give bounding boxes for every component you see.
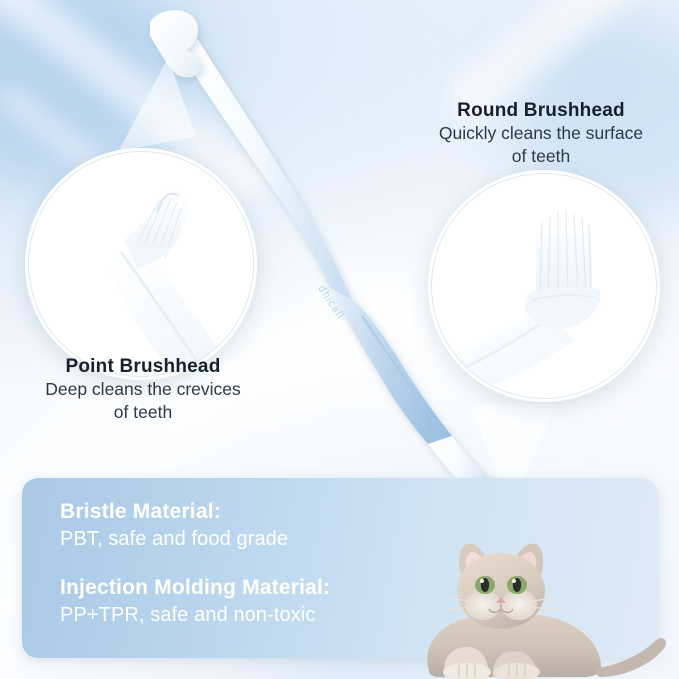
product-infographic: dhicall	[0, 0, 679, 679]
callout-description-line2: of teeth	[12, 401, 274, 424]
material-value: PBT, safe and food grade	[60, 528, 288, 551]
british-shorthair-cat	[405, 519, 673, 679]
callout-point-brushhead: Point Brushhead Deep cleans the crevices…	[12, 356, 274, 424]
callout-round-brushhead: Round Brushhead Quickly cleans the surfa…	[416, 100, 666, 168]
material-row-injection: Injection Molding Material: PP+TPR, safe…	[60, 576, 330, 627]
callout-description-line1: Quickly cleans the surface	[416, 122, 666, 145]
callout-title: Round Brushhead	[416, 100, 666, 122]
point-brushhead	[150, 10, 200, 77]
cat-face	[457, 553, 545, 629]
callout-description-line2: of teeth	[416, 145, 666, 168]
material-label: Bristle Material:	[60, 500, 288, 524]
round-brushhead-magnifier	[428, 170, 660, 402]
material-label: Injection Molding Material:	[60, 576, 330, 600]
cat-cheek-left	[465, 590, 501, 620]
cat-cheek-right	[501, 590, 537, 620]
material-value: PP+TPR, safe and non-toxic	[60, 604, 330, 627]
material-row-bristle: Bristle Material: PBT, safe and food gra…	[60, 500, 288, 551]
callout-description-line1: Deep cleans the crevices	[12, 378, 274, 401]
callout-title: Point Brushhead	[12, 356, 274, 378]
cat-tail	[593, 638, 666, 677]
point-brushhead-magnifier	[25, 148, 257, 380]
